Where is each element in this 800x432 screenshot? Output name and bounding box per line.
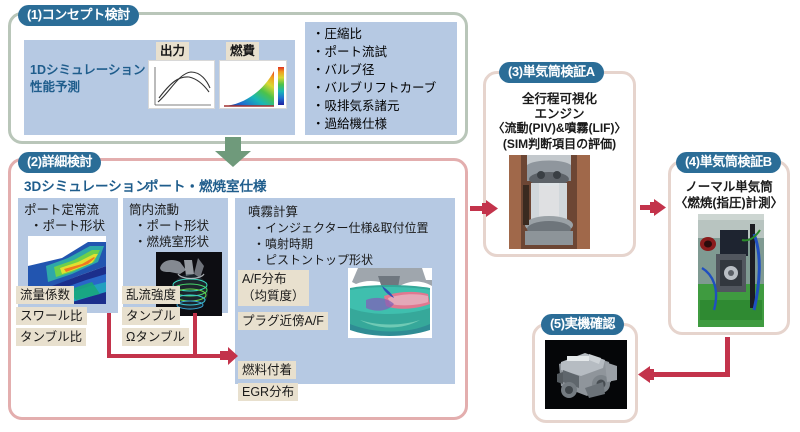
stage-2-col1-output-3: タンブル比: [16, 328, 86, 346]
connector-col1-vertical: [107, 313, 111, 358]
stage-3-badge: (3)単気筒検証A: [499, 62, 604, 83]
stage-2-col1-output-2: スワール比: [16, 307, 87, 325]
list-item: ・過給機仕様: [312, 115, 436, 133]
spray-af-cfd-image: [348, 268, 432, 338]
arrow-right-icon: [482, 200, 498, 217]
list-item: ・ポート流試: [312, 43, 436, 61]
arrow-stage4-to-stage5-vertical: [725, 337, 730, 377]
stage-2-col2-bullet-2: ・燃焼室形状: [134, 234, 209, 250]
list-item: ・吸排気系諸元: [312, 97, 436, 115]
stage-3-line-4: (SIM判断項目の評価): [483, 137, 636, 152]
stage-4-badge: (4)単気筒検証B: [676, 152, 781, 173]
stage-2-col1-output-1: 流量係数: [16, 286, 74, 304]
stage-2-col2-bullet-1: ・ポート形状: [134, 218, 209, 234]
stage-1-bullet-list: ・圧縮比 ・ポート流試 ・バルブ径 ・バルブリフトカーブ ・吸排気系諸元 ・過給…: [312, 25, 436, 133]
stage-2-heading-right: ポート・燃焼室仕様: [145, 178, 267, 195]
stage-4-line-2: 〈燃焼(指圧)計測〉: [668, 195, 790, 211]
chart-fuel-caption: 燃費: [226, 42, 259, 60]
stage-3-line-2: エンジン: [483, 106, 636, 122]
stage-3-line-1: 全行程可視化: [483, 91, 636, 107]
chart-output-image: [148, 60, 215, 109]
stage-2-col2-output-2: タンブル: [122, 307, 180, 325]
list-item: ・バルブ径: [312, 61, 436, 79]
stage-2-col1-title: ポート定常流: [24, 202, 99, 218]
diagram-canvas: (1)コンセプト検討 1Dシミュレーション 性能予測 出力 燃費: [0, 0, 800, 432]
stage-2-col3-output-fuel-adhesion: 燃料付着: [238, 361, 296, 379]
arrow-stage4-to-stage5-horizontal: [652, 372, 730, 377]
stage-2-col2-title: 筒内流動: [129, 202, 179, 218]
chart-output-caption: 出力: [156, 42, 189, 60]
arrow-right-icon: [650, 199, 666, 216]
stage-5-badge: (5)実機確認: [541, 314, 624, 335]
chart-fuel-image: [219, 60, 287, 109]
stage-1-sim-label-line1: 1Dシミュレーション: [30, 62, 145, 78]
stage-2-col3-bullet-2: ・噴射時期: [253, 237, 313, 252]
list-item: ・圧縮比: [312, 25, 436, 43]
stage-2-heading-left: 3Dシミュレーション: [24, 178, 149, 195]
list-item: ・バルブリフトカーブ: [312, 79, 436, 97]
stage-2-badge: (2)詳細検討: [18, 152, 101, 173]
stage-2-col3-output-plug-af: プラグ近傍A/F: [238, 312, 328, 330]
stage-2-col3-output-af: A/F分布 （均質度）: [238, 270, 309, 306]
arrow-down-icon: [213, 137, 253, 167]
stage-2-col3-title: 噴霧計算: [248, 204, 298, 220]
single-cylinder-test-bench-photo: [698, 214, 764, 327]
stage-2-col1-bullet-1: ・ポート形状: [30, 218, 105, 234]
arrow-right-icon: [220, 347, 238, 365]
connector-col2-vertical: [193, 313, 197, 358]
stage-1-badge: (1)コンセプト検討: [18, 5, 139, 26]
arrow-left-icon: [638, 366, 654, 383]
stage-2-col2-output-1: 乱流強度: [122, 286, 180, 304]
stage-4-line-1: ノーマル単気筒: [668, 179, 790, 195]
stage-2-col3-output-egr: EGR分布: [238, 383, 298, 401]
stage-2-col2-output-3: Ωタンブル: [122, 328, 189, 346]
stage-3-line-3: 〈流動(PIV)&噴霧(LIF)〉: [483, 121, 636, 136]
connector-horizontal: [107, 354, 227, 358]
optical-single-cylinder-engine-photo: [509, 155, 590, 249]
stage-2-col3-bullet-1: ・インジェクター仕様&取付位置: [253, 221, 429, 236]
stage-2-col3-bullet-3: ・ピストントップ形状: [253, 253, 373, 268]
production-engine-photo: [545, 340, 627, 409]
stage-1-sim-label-line2: 性能予測: [30, 79, 80, 95]
